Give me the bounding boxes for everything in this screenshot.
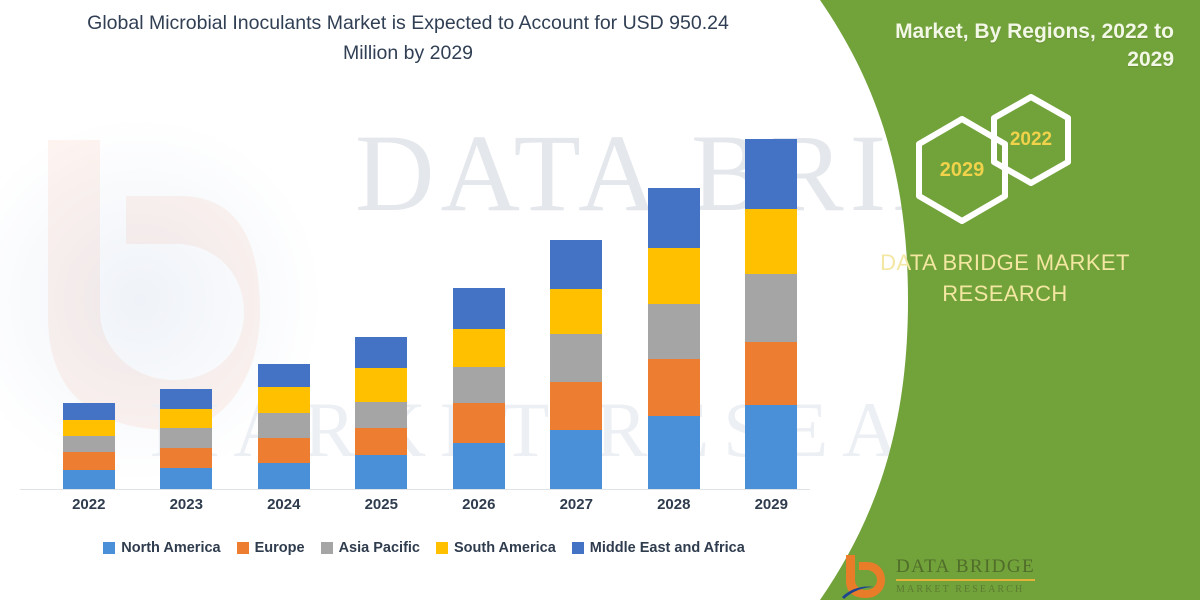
hexagon-badges: 2022 2029 (900, 92, 1100, 222)
bar-segment (550, 382, 602, 430)
infographic-canvas: DATA BRIDGE MARKET RESEARCH Global Micro… (0, 0, 1200, 600)
x-axis-tick-label: 2027 (550, 496, 602, 513)
company-logo-tagline: MARKET RESEARCH (896, 585, 1035, 596)
bar-segment (550, 430, 602, 490)
legend-item[interactable]: Asia Pacific (321, 540, 420, 556)
legend-swatch-icon (572, 542, 584, 554)
x-axis-tick-label: 2023 (160, 496, 212, 513)
bar-column (355, 100, 407, 490)
company-logo-rule (896, 579, 1035, 581)
bar-segment (453, 288, 505, 329)
bar-segment (63, 452, 115, 470)
legend-label: South America (454, 540, 556, 556)
hexagon-badge-2029: 2029 (912, 114, 1012, 226)
side-panel-content: Market, By Regions, 2022 to 2029 2022 20… (790, 0, 1200, 600)
bar-segment (550, 240, 602, 289)
bar-segment (453, 367, 505, 404)
page-title: Global Microbial Inoculants Market is Ex… (58, 8, 758, 68)
x-axis-tick-label: 2028 (648, 496, 700, 513)
x-axis-tick-label: 2025 (355, 496, 407, 513)
hexagon-badge-2029-label: 2029 (940, 159, 985, 182)
bar-segment (550, 289, 602, 335)
bar-segment (160, 448, 212, 468)
chart-plot-area (40, 100, 820, 490)
bar-segment (258, 438, 310, 463)
bar-segment (453, 403, 505, 443)
legend-label: Europe (255, 540, 305, 556)
bar-segment (453, 443, 505, 490)
bar-segment (160, 409, 212, 429)
legend-label: North America (121, 540, 220, 556)
legend-item[interactable]: North America (103, 540, 220, 556)
bar-column (258, 100, 310, 490)
bar-segment (258, 387, 310, 413)
bar-segment (355, 337, 407, 368)
side-panel-title: Market, By Regions, 2022 to 2029 (860, 18, 1174, 75)
bridge-b-logo-icon (840, 553, 886, 599)
bar-segment (258, 463, 310, 490)
bar-segment (258, 364, 310, 388)
bar-segment (258, 413, 310, 438)
bar-segment (63, 470, 115, 490)
bar-segment (648, 188, 700, 248)
bar-segment (355, 455, 407, 490)
bar-segment (453, 329, 505, 367)
bar-segment (648, 304, 700, 359)
bar-segment (160, 428, 212, 448)
legend-label: Asia Pacific (339, 540, 420, 556)
x-axis-tick-label: 2024 (258, 496, 310, 513)
bar-segment (355, 368, 407, 402)
bar-column (648, 100, 700, 490)
bar-group (40, 100, 820, 490)
legend-item[interactable]: Europe (237, 540, 305, 556)
bar-column (453, 100, 505, 490)
bar-column (550, 100, 602, 490)
bar-segment (63, 403, 115, 420)
bar-column (160, 100, 212, 490)
bar-segment (355, 428, 407, 456)
bar-column (63, 100, 115, 490)
company-logo: DATA BRIDGE MARKET RESEARCH (840, 552, 1140, 600)
x-axis-labels: 20222023202420252026202720282029 (40, 496, 820, 513)
company-logo-text: DATA BRIDGE MARKET RESEARCH (896, 557, 1035, 595)
bar-segment (648, 359, 700, 416)
company-logo-name: DATA BRIDGE (896, 557, 1035, 577)
bar-segment (63, 436, 115, 452)
bar-segment (648, 248, 700, 305)
chart-legend: North AmericaEuropeAsia PacificSouth Ame… (44, 540, 804, 556)
bar-segment (550, 334, 602, 382)
brand-name: DATA BRIDGE MARKET RESEARCH (845, 248, 1165, 310)
x-axis-tick-label: 2022 (63, 496, 115, 513)
bar-segment (355, 402, 407, 428)
legend-item[interactable]: South America (436, 540, 556, 556)
legend-swatch-icon (237, 542, 249, 554)
legend-item[interactable]: Middle East and Africa (572, 540, 745, 556)
bar-segment (63, 420, 115, 436)
bar-segment (160, 468, 212, 490)
legend-swatch-icon (436, 542, 448, 554)
bar-segment (648, 416, 700, 490)
side-panel: Market, By Regions, 2022 to 2029 2022 20… (790, 0, 1200, 600)
legend-label: Middle East and Africa (590, 540, 745, 556)
bar-segment (160, 389, 212, 409)
x-axis-line (20, 489, 810, 490)
legend-swatch-icon (103, 542, 115, 554)
legend-swatch-icon (321, 542, 333, 554)
hexagon-badge-2022-label: 2022 (1010, 129, 1052, 151)
x-axis-tick-label: 2026 (453, 496, 505, 513)
